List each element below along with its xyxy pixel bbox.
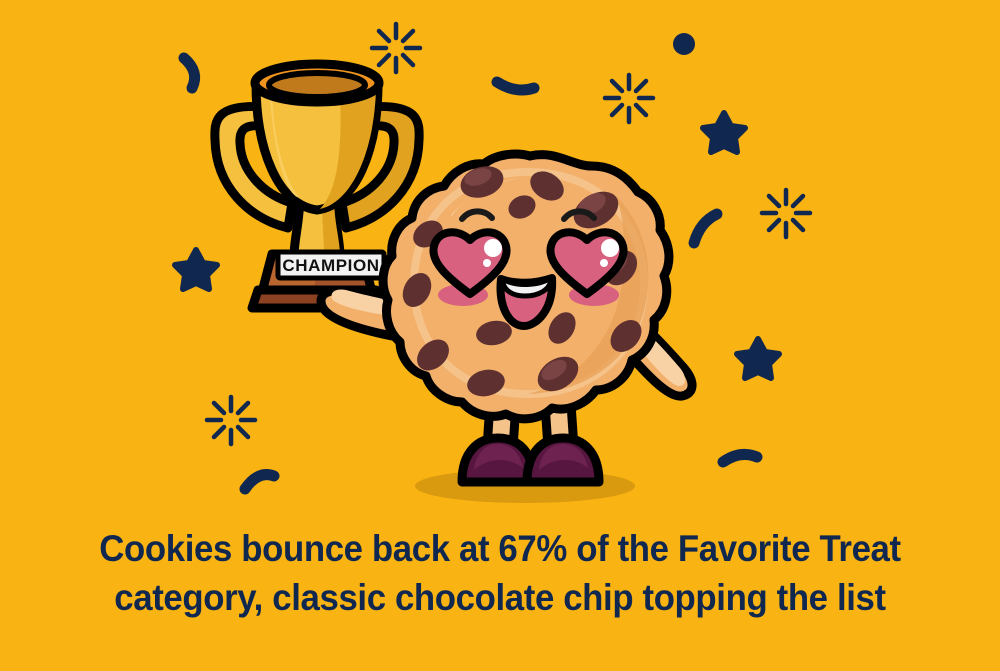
caption-line-1: Cookies bounce back at 67% of the Favori… <box>30 524 970 573</box>
heart-eye-left-highlight-small <box>483 259 491 267</box>
confetti-dot-1 <box>673 33 695 55</box>
trophy-rim-inner <box>269 73 365 97</box>
poster-canvas: CHAMPION <box>0 0 1000 671</box>
trophy-plaque-label: CHAMPION <box>282 256 379 275</box>
caption-line-2: category, classic chocolate chip topping… <box>30 573 970 622</box>
heart-eye-right-highlight-small <box>600 259 608 267</box>
heart-eye-right-highlight-big <box>601 239 619 257</box>
caption-text: Cookies bounce back at 67% of the Favori… <box>30 524 970 622</box>
heart-eye-left-highlight-big <box>484 239 502 257</box>
